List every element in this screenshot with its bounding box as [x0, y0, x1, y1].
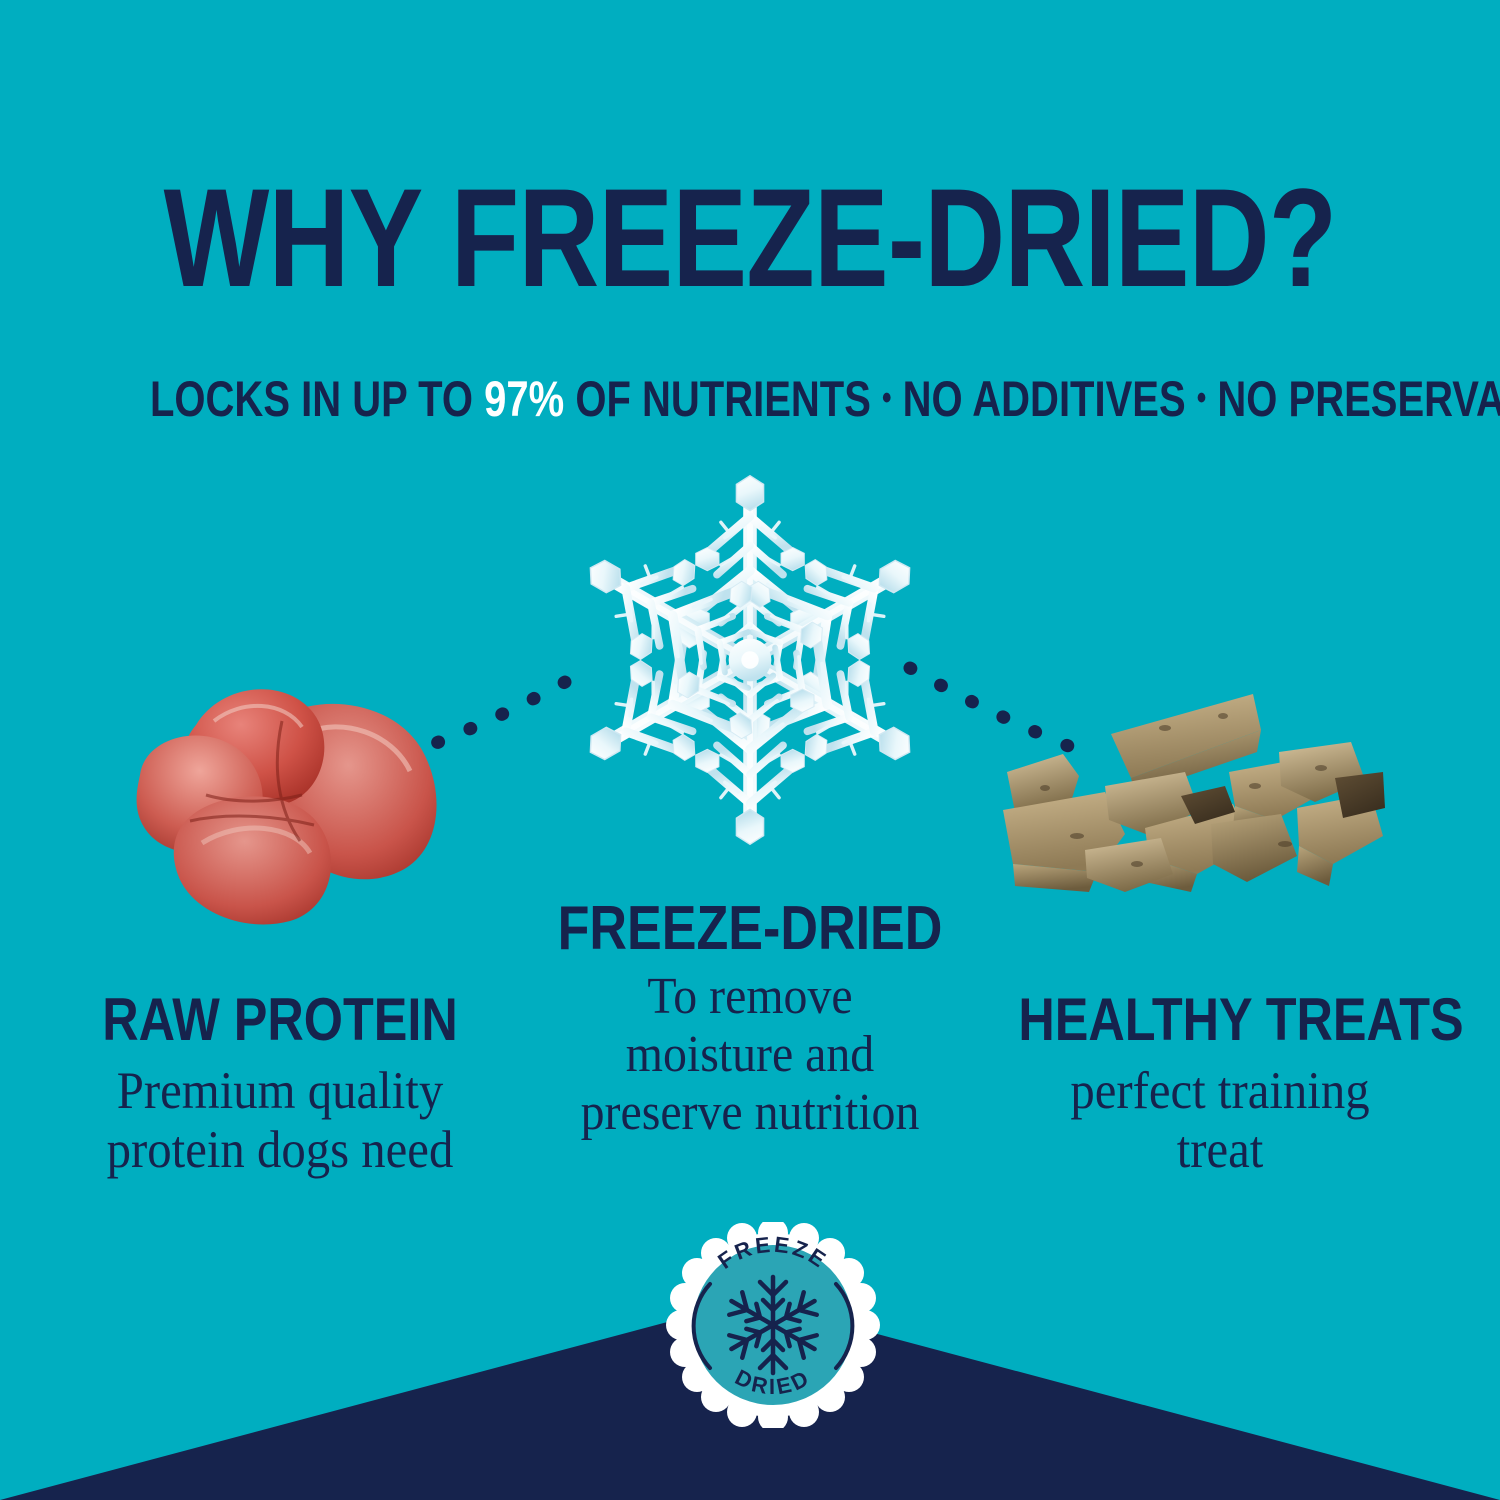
freeze-dried-treats-image: [985, 668, 1385, 933]
column-freeze-dried: FREEZE-DRIED To remove moisture and pres…: [520, 898, 980, 1143]
column-body-freeze-dried: To remove moisture and preserve nutritio…: [538, 968, 961, 1143]
bullet-separator-2: •: [1197, 381, 1207, 415]
freeze-dried-line-2: moisture and: [538, 1026, 961, 1084]
subtitle-part4: NO PRESERVATIVES: [1217, 371, 1500, 427]
bullet-separator-1: •: [882, 381, 892, 415]
subtitle-part2: OF NUTRIENTS: [575, 371, 871, 427]
column-body-healthy-treats: perfect training treat: [999, 1062, 1441, 1181]
column-raw-protein: RAW PROTEIN Premium quality protein dogs…: [40, 990, 520, 1181]
column-body-raw-protein: Premium quality protein dogs need: [59, 1062, 501, 1181]
raw-protein-line-1: Premium quality: [59, 1062, 501, 1121]
subtitle-part3: NO ADDITIVES: [903, 371, 1186, 427]
freeze-dried-line-1: To remove: [538, 968, 961, 1026]
healthy-treats-line-2: treat: [999, 1121, 1441, 1180]
freeze-dried-badge: FREEZE DRIED: [660, 1222, 886, 1428]
subtitle-part1: LOCKS IN UP TO: [150, 371, 473, 427]
column-title-raw-protein: RAW PROTEIN: [78, 990, 481, 1050]
raw-meat-image: [110, 655, 460, 930]
subtitle-nutrient-percent: 97%: [484, 371, 564, 427]
column-title-healthy-treats: HEALTHY TREATS: [1018, 990, 1421, 1050]
snowflake-crystal-image: [556, 466, 944, 854]
page-title: WHY FREEZE-DRIED?: [150, 168, 1350, 308]
subtitle: LOCKS IN UP TO 97% OF NUTRIENTS • NO ADD…: [150, 374, 1350, 424]
healthy-treats-line-1: perfect training: [999, 1062, 1441, 1121]
column-healthy-treats: HEALTHY TREATS perfect training treat: [980, 990, 1460, 1181]
infographic-canvas: WHY FREEZE-DRIED? LOCKS IN UP TO 97% OF …: [0, 0, 1500, 1500]
column-title-freeze-dried: FREEZE-DRIED: [557, 898, 943, 960]
raw-protein-line-2: protein dogs need: [59, 1121, 501, 1180]
freeze-dried-line-3: preserve nutrition: [538, 1084, 961, 1142]
